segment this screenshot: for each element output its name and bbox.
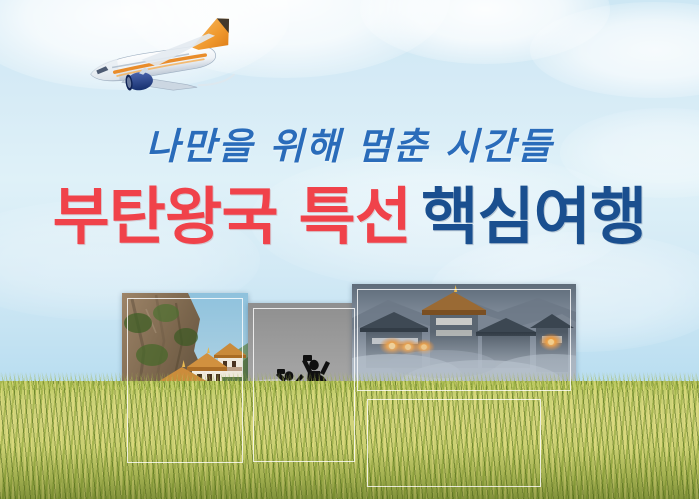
headline-red-part: 부탄왕국 특선 — [53, 180, 412, 253]
page-title: 부탄왕국 특선핵심여행 — [0, 186, 699, 248]
travel-banner: 나만을 위해 멈춘 시간들 부탄왕국 특선핵심여행 — [0, 0, 699, 499]
headline-navy-part: 핵심여행 — [421, 180, 646, 253]
tagline-text: 나만을 위해 멈춘 시간들 — [0, 116, 699, 170]
rice-field — [0, 381, 699, 499]
